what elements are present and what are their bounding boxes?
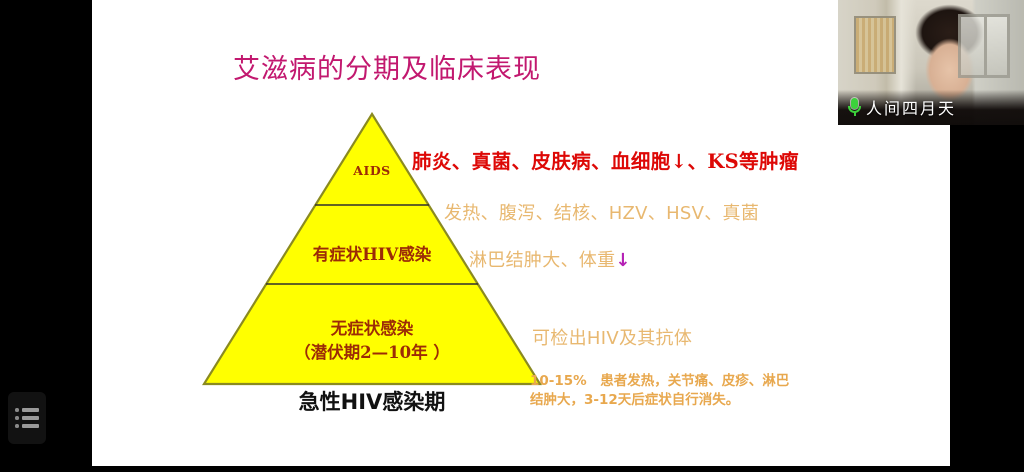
annotation-aids-stage-note: 肺炎、真菌、皮肤病、血细胞↓、KS等肿瘤 — [412, 145, 799, 174]
list-view-button[interactable] — [8, 392, 46, 444]
page-title: 艾滋病的分期及临床表现 — [233, 47, 541, 86]
pyramid-base-caption: 急性HIV感染期 — [202, 386, 542, 416]
participant-name: 人间四月天 — [866, 95, 956, 119]
annotation-symptomatic-note-2: 淋巴结肿大、体重↓ — [469, 246, 631, 272]
annotation-asymptomatic-note: 可检出HIV及其抗体 — [532, 324, 692, 350]
webcam-thumbnail[interactable]: 人间四月天 — [838, 0, 1024, 125]
pyramid-tier-label-asymptomatic-line2: （潜伏期2—10年 ） — [202, 339, 542, 363]
slide-canvas[interactable]: 艾滋病的分期及临床表现 AIDS 有症状HIV感染 无症状感染 （潜伏期2—10… — [92, 0, 950, 466]
annotation-symptomatic-note-2-text: 淋巴结肿大、体重 — [469, 250, 615, 271]
left-rail — [0, 0, 92, 472]
webcam-background-shelf — [854, 16, 896, 74]
pyramid-tier-label-asymptomatic-line1: 无症状感染 — [202, 315, 542, 339]
annotation-acute-stage-note: 10-15% 患者发热，关节痛、皮疹、淋巴 结肿大，3-12天后症状自行消失。 — [530, 372, 789, 410]
microphone-icon[interactable] — [847, 98, 862, 117]
webcam-name-overlay: 人间四月天 — [838, 89, 1024, 125]
weight-down-arrow-icon: ↓ — [615, 250, 630, 271]
annotation-symptomatic-note-1: 发热、腹泻、结核、HZV、HSV、真菌 — [444, 199, 759, 225]
webcam-background-window — [958, 14, 1010, 78]
screen-root: 艾滋病的分期及临床表现 AIDS 有症状HIV感染 无症状感染 （潜伏期2—10… — [0, 0, 1024, 472]
bottom-gutter — [0, 466, 1024, 472]
list-icon — [15, 407, 39, 429]
